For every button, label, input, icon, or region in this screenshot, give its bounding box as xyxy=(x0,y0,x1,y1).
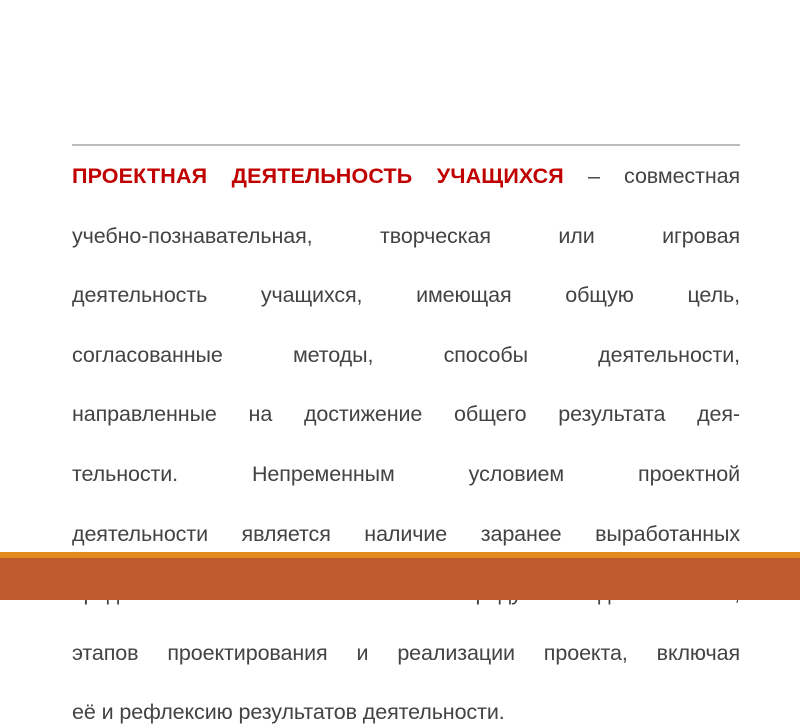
footer-band xyxy=(0,558,800,600)
slide-body-text: ПРОЕКТНАЯ ДЕЯТЕЛЬНОСТЬ УЧАЩИХСЯ – совмес… xyxy=(72,162,740,728)
text-line-3: деятельность учащихся, имеющая общую цел… xyxy=(72,281,740,341)
text-line-4: согласованные методы, способы деятельнос… xyxy=(72,341,740,401)
text-line-1: ПРОЕКТНАЯ ДЕЯТЕЛЬНОСТЬ УЧАЩИХСЯ – совмес… xyxy=(72,162,740,222)
text-line-10: её и рефлексию результатов деятельности. xyxy=(72,698,740,728)
text-line-9: этапов проектирования и реализации проек… xyxy=(72,639,740,699)
text-line-1-tail: – совместная xyxy=(564,164,740,188)
text-line-5: направленные на достижение общего резуль… xyxy=(72,400,740,460)
text-line-2: учебно-познавательная, творческая или иг… xyxy=(72,222,740,282)
text-line-6: тельности. Непременным условием проектно… xyxy=(72,460,740,520)
top-divider-rule xyxy=(72,144,740,146)
slide-canvas: ПРОЕКТНАЯ ДЕЯТЕЛЬНОСТЬ УЧАЩИХСЯ – совмес… xyxy=(0,0,800,600)
definition-term: ПРОЕКТНАЯ ДЕЯТЕЛЬНОСТЬ УЧАЩИХСЯ xyxy=(72,164,564,188)
